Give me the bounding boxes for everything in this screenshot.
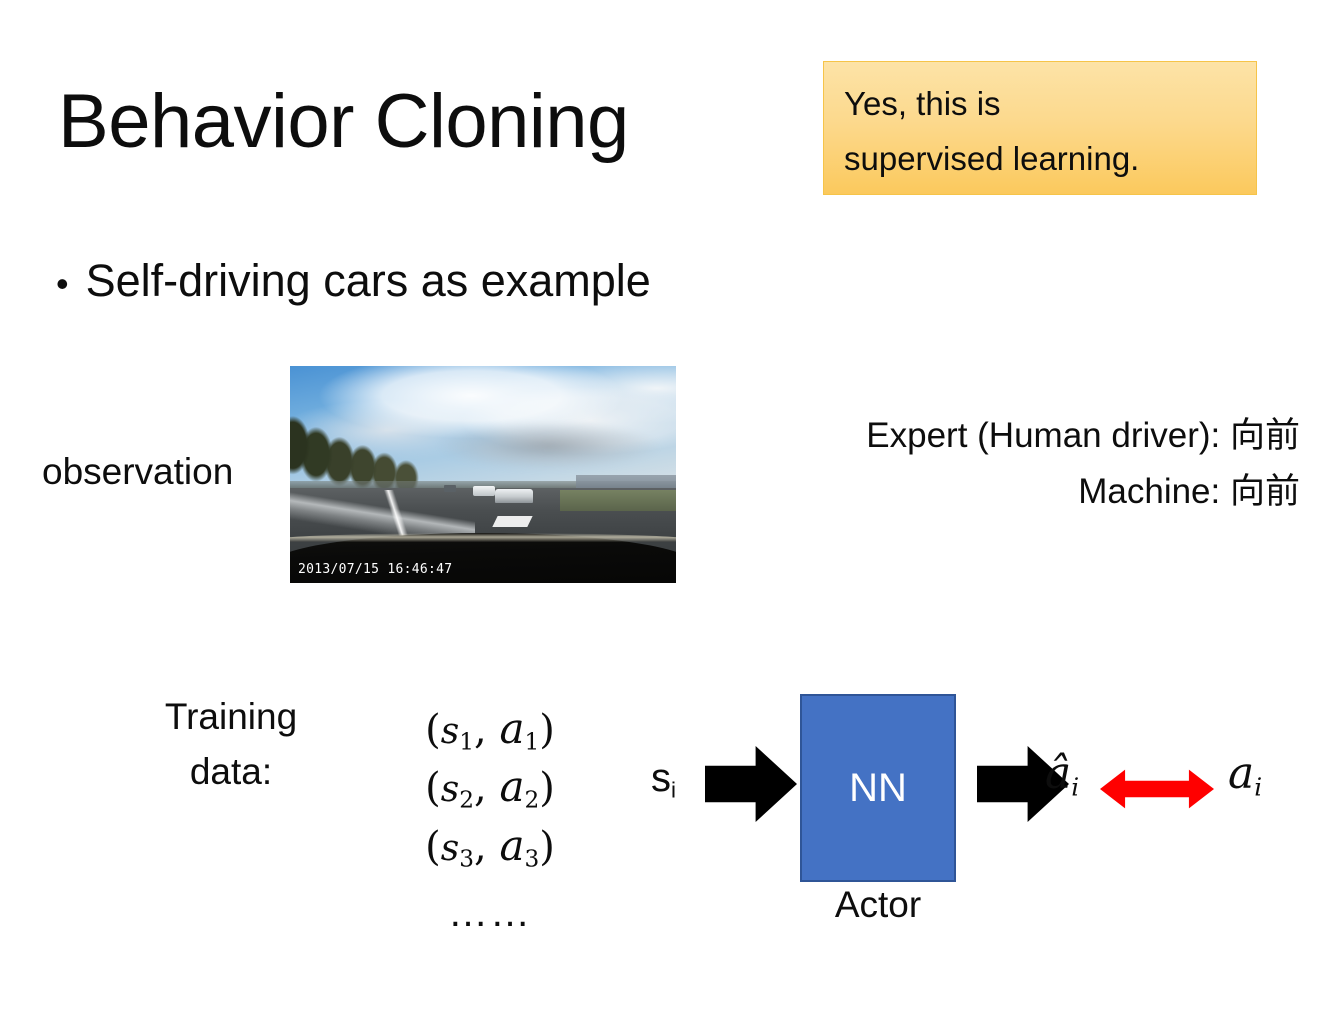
- paren-open: (: [425, 765, 441, 811]
- action-symbol: a: [499, 762, 524, 811]
- state-symbol: s: [441, 711, 459, 752]
- pair-comma: ,: [474, 765, 499, 811]
- machine-action-line: Machine: 向前: [720, 464, 1300, 520]
- paren-close: ): [539, 765, 555, 811]
- input-state-label: si: [651, 758, 676, 802]
- training-data-label: Training data:: [146, 690, 316, 800]
- input-state-index: i: [671, 778, 676, 803]
- state-symbol: s: [441, 769, 459, 810]
- expert-label: Expert (Human driver):: [866, 416, 1230, 455]
- training-pairs-ellipsis: ……: [400, 875, 580, 935]
- training-pair: (s1, a1): [400, 700, 580, 758]
- callout-line-1: Yes, this is: [844, 76, 1256, 131]
- actor-pipeline-diagram: si NN Actor âi ai: [645, 690, 1305, 935]
- predicted-action-label: âi: [1045, 752, 1079, 800]
- car-near: [495, 489, 534, 503]
- photo-timestamp: 2013/07/15 16:46:47: [298, 562, 452, 577]
- bullet-item-label: Self-driving cars as example: [86, 258, 651, 303]
- state-index: 3: [459, 845, 474, 872]
- state-symbol: s: [441, 828, 459, 869]
- state-index: 1: [459, 728, 474, 755]
- predicted-action-symbol: â: [1045, 748, 1071, 799]
- target-action-label: ai: [1228, 752, 1262, 800]
- supervised-learning-callout: Yes, this is supervised learning.: [823, 61, 1257, 195]
- double-arrow-compare-icon: [1100, 766, 1214, 812]
- training-pair: (s3, a3): [400, 817, 580, 875]
- training-data-label-line-1: Training: [146, 690, 316, 745]
- bullet-item-self-driving: • Self-driving cars as example: [56, 258, 651, 303]
- target-action-index: i: [1254, 772, 1262, 801]
- training-data-label-line-2: data:: [146, 745, 316, 800]
- callout-line-2: supervised learning.: [844, 131, 1256, 186]
- training-data-pairs: (s1, a1) (s2, a2) (s3, a3) ……: [400, 700, 580, 935]
- machine-action-value: 向前: [1230, 472, 1300, 512]
- input-state-symbol: s: [651, 756, 671, 800]
- neural-network-label: NN: [849, 768, 907, 808]
- target-action-symbol: a: [1228, 748, 1254, 799]
- pair-comma: ,: [474, 707, 499, 753]
- observation-label: observation: [42, 453, 233, 490]
- expert-action-value: 向前: [1230, 416, 1300, 456]
- training-pair: (s2, a2): [400, 758, 580, 816]
- action-symbol: a: [499, 704, 524, 753]
- bullet-marker-icon: •: [56, 266, 69, 302]
- paren-open: (: [425, 824, 441, 870]
- neural-network-block: NN: [800, 694, 956, 882]
- machine-label: Machine:: [1078, 472, 1230, 511]
- vehicle-hood-glint: [290, 533, 676, 542]
- paren-close: ): [539, 824, 555, 870]
- paren-open: (: [425, 707, 441, 753]
- predicted-action-index: i: [1071, 772, 1079, 801]
- action-index: 3: [524, 845, 539, 872]
- pair-comma: ,: [474, 824, 499, 870]
- action-symbol: a: [499, 821, 524, 870]
- paren-close: ): [539, 707, 555, 753]
- action-index: 2: [524, 787, 539, 814]
- action-comparison-block: Expert (Human driver): 向前 Machine: 向前: [720, 408, 1300, 521]
- state-index: 2: [459, 787, 474, 814]
- dashcam-photo: 2013/07/15 16:46:47: [290, 366, 676, 583]
- car-far: [444, 485, 456, 492]
- arrow-right-icon: [705, 746, 797, 822]
- cloud-bank: [406, 418, 676, 474]
- lane-marking-dash: [492, 516, 532, 527]
- actor-label: Actor: [800, 886, 956, 923]
- page-title: Behavior Cloning: [58, 82, 629, 162]
- car-mid: [473, 486, 494, 496]
- action-index: 1: [524, 728, 539, 755]
- expert-action-line: Expert (Human driver): 向前: [720, 408, 1300, 464]
- roadside-grass: [560, 490, 676, 512]
